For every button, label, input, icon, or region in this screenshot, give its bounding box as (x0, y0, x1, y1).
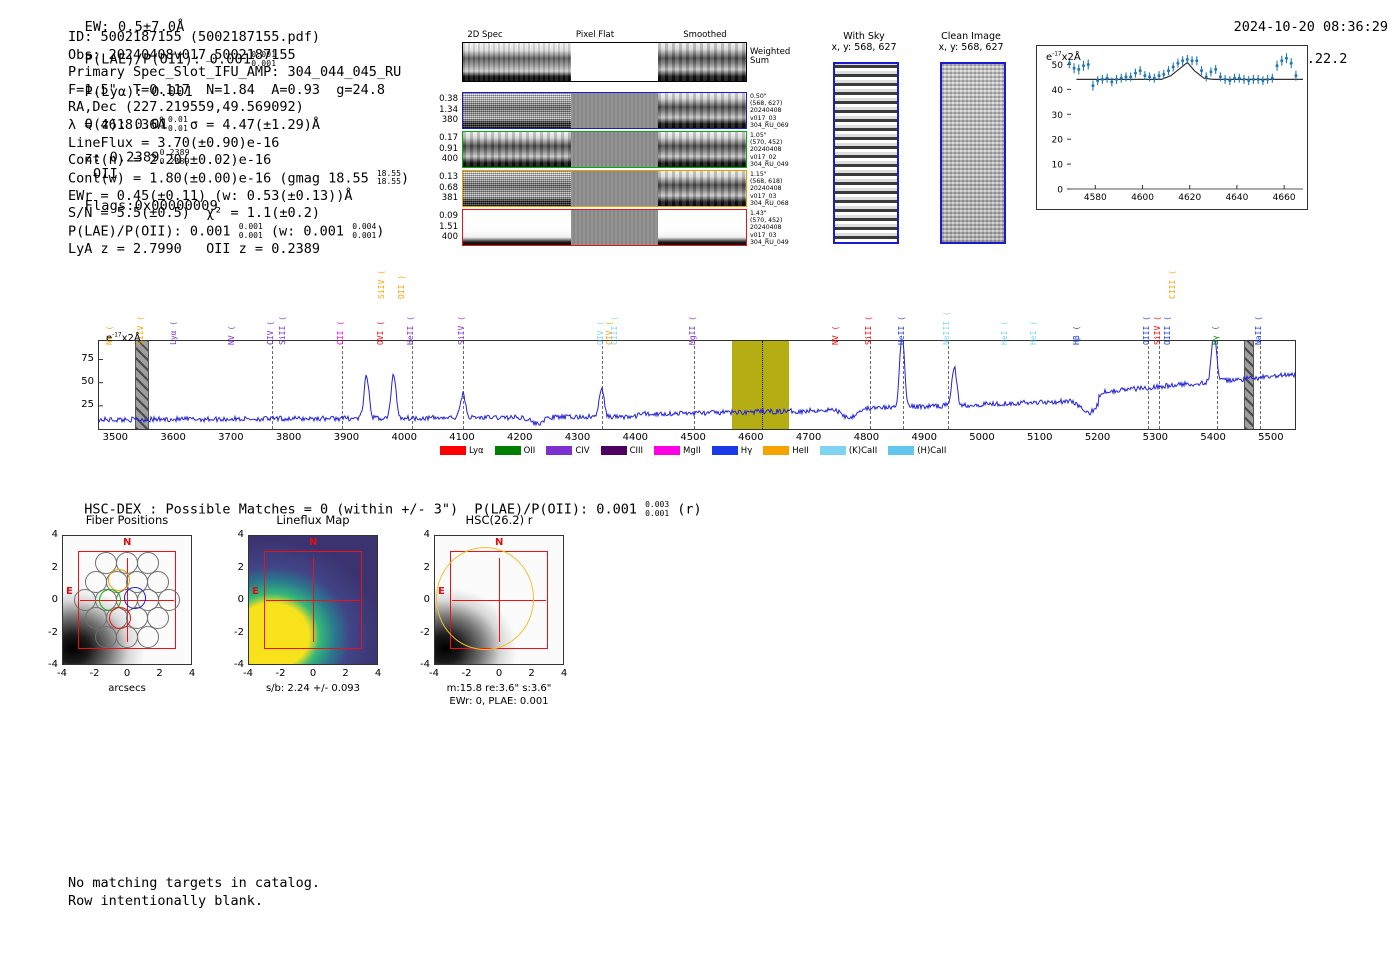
full-spectrum-line-label: MgII ( (688, 316, 697, 345)
legend-item: Lyα (440, 446, 484, 456)
header-datetime: 2024-10-20 08:36:29 (1234, 19, 1388, 35)
full-spectrum-line-label: NV ( (227, 326, 236, 345)
full-spectrum-line-label: OIV ( (596, 321, 605, 345)
cutout-title-0: With Sky (843, 31, 884, 42)
svg-text:4640: 4640 (1225, 193, 1248, 203)
spec2d-fiber-meta: 304_RU_068 (750, 200, 808, 207)
cutout-title-with-sky: With Sky x, y: 568, 627 (818, 31, 910, 53)
info-plae-post: ) (376, 224, 384, 240)
full-spectrum-x-tick: 4600 (729, 432, 773, 443)
full-spectrum-x-tick: 4200 (498, 432, 542, 443)
spec2d-col-header-pixelflat: Pixel Flat (540, 30, 650, 40)
cutout-subtitle-0: x, y: 568, 627 (831, 42, 896, 53)
full-spectrum-line-label: HeI ( (1000, 321, 1009, 345)
spec2d-fiber-meta: v017_03 (750, 193, 808, 200)
full-spectrum-line-label: CIII ( (610, 316, 619, 345)
info-primary-spec-slot: Primary Spec_Slot_IFU_AMP: 304_044_045_R… (68, 64, 409, 82)
fiber-circle[interactable] (85, 571, 107, 593)
spec2d-fiber-meta: v017_03 (750, 232, 808, 239)
bottom-panel-caption: s/b: 2.24 +/- 0.093 (218, 683, 408, 695)
bottom-panel-y-tick: 0 (226, 594, 244, 605)
bottom-panel-title: Fiber Positions (40, 513, 214, 527)
bottom-panel-y-tick: -4 (226, 659, 244, 670)
bottom-panel-y-tick: -4 (40, 659, 58, 670)
spec2d-fiber-meta: 1.43" (750, 210, 808, 217)
bottom-panel-y-tick: 0 (40, 594, 58, 605)
info-lineflux: LineFlux = 3.70(±0.90)e-16 (68, 135, 409, 153)
bottom-panel-y-tick: 2 (412, 562, 430, 573)
bottom-panel-y-tick: -2 (226, 627, 244, 638)
svg-text:4600: 4600 (1131, 193, 1154, 203)
spec2d-fiber-meta: 20240408 (750, 185, 808, 192)
bottom-panel-y-tick: -4 (412, 659, 430, 670)
full-spectrum-x-tick: 4100 (440, 432, 484, 443)
svg-text:0: 0 (1057, 186, 1063, 196)
full-spectrum-x-tick: 4300 (556, 432, 600, 443)
bottom-panel-x-tick: 0 (115, 668, 139, 679)
legend-swatch (763, 446, 789, 455)
full-spectrum-x-tick: 5400 (1191, 432, 1235, 443)
info-cont-w: Cont(w) = 1.80(±0.00)e-16 (gmag 18.55 18… (68, 170, 409, 188)
detection-info-block: ID: 5002187155 (5002187155.pdf) Obs: 202… (68, 29, 409, 259)
spec2d-fiber-flat-image (571, 171, 659, 206)
spec2d-fiber-meta: 1.05" (750, 132, 808, 139)
zoom-spectrum-flux-annotation: e-17x2Å (1046, 52, 1081, 63)
spec2d-fiber-stat: 1.51 (424, 222, 458, 233)
full-spectrum-line-label: OIII ( (1163, 316, 1172, 345)
full-spectrum-line-label: Lyα ( (169, 321, 178, 345)
legend-swatch (601, 446, 627, 455)
svg-text:10: 10 (1052, 161, 1064, 171)
spec2d-fiber-stat: 380 (424, 115, 458, 126)
spec2d-fiber-left-stats: 0.091.51400 (424, 211, 458, 243)
cutout-image-clean (940, 62, 1006, 244)
spec2d-fiber-meta: 304_RU_049 (750, 239, 808, 246)
info-ewr: EWr = 0.45(±0.11) (w: 0.53(±0.13))Å (68, 188, 409, 206)
footer-note: No matching targets in catalog. Row inte… (68, 875, 320, 910)
legend-label: CIII (630, 446, 643, 456)
bottom-panel-y-tick: 4 (412, 529, 430, 540)
spec2d-weighted-sum-smoothed-image (658, 43, 746, 81)
spec2d-fiber-meta: 1.15" (750, 171, 808, 178)
full-spectrum-line-label: NeIII ( (942, 311, 951, 345)
spec2d-weighted-sum-row (462, 42, 747, 82)
bottom-panel-x-tick: 2 (334, 668, 358, 679)
info-cont-n: Cont(n) = 2.20(±0.02)e-16 (68, 152, 409, 170)
full-spectrum-x-tick: 4900 (902, 432, 946, 443)
zoom-spectrum-svg: 0102030405045804600462046404660 (1037, 46, 1309, 211)
spec2d-fiber-stat: 381 (424, 193, 458, 204)
spec2d-fiber-meta: 0.50" (750, 93, 808, 100)
spec2d-fiber-row (462, 170, 747, 207)
spec2d-fiber-left-stats: 0.381.34380 (424, 94, 458, 126)
spec2d-fiber-stat: 0.13 (424, 172, 458, 183)
legend-swatch (440, 446, 466, 455)
full-spectrum-line-label: OII ) (397, 275, 406, 299)
legend-label: CIV (575, 446, 589, 456)
legend-label: HeII (792, 446, 809, 456)
info-plae-w-lo: 0.001 (352, 231, 376, 240)
bottom-panel-y-tick: 2 (40, 562, 58, 573)
info-plae-poii: P(LAE)/P(OII): 0.001 0.0010.001 (w: 0.00… (68, 223, 409, 241)
info-cont-w-post: ) (401, 170, 409, 186)
spec2d-col-header-2dspec: 2D Spec (430, 30, 540, 40)
legend-label: MgII (683, 446, 701, 456)
full-spectrum-line-label: SiII ( (278, 316, 287, 345)
full-spectrum-line-label: CIV ( (266, 321, 275, 345)
fiber-circle[interactable] (95, 626, 117, 648)
info-plae-mid: (w: 0.001 (263, 224, 352, 240)
legend-swatch (712, 446, 738, 455)
svg-text:40: 40 (1052, 86, 1064, 96)
spec2d-fiber-stat: 0.09 (424, 211, 458, 222)
legend-item: CIV (546, 446, 589, 456)
full-spectrum-line-label: SiIV ( (1153, 316, 1162, 345)
footer-line-1: No matching targets in catalog. (68, 875, 320, 893)
legend-swatch (820, 446, 846, 455)
cutout-title-clean-image: Clean Image x, y: 568, 627 (925, 31, 1017, 53)
full-spectrum-x-tick: 4400 (613, 432, 657, 443)
bottom-panel-north-label: N (495, 537, 503, 548)
bottom-panel-x-tick: 4 (180, 668, 204, 679)
spec2d-fiber-stat: 400 (424, 232, 458, 243)
spec2d-fiber-row (462, 131, 747, 168)
spec2d-fiber-flat-image (571, 93, 659, 128)
full-spectrum-legend: LyαOIICIVCIIIMgIIHγHeII(K)CaII(H)CaII (440, 446, 957, 456)
legend-swatch (495, 446, 521, 455)
full-spectrum-line-label: NV ( (831, 326, 840, 345)
spec2d-fiber-meta: (568, 627) (750, 100, 808, 107)
full-spectrum-flux-annotation: e-17x2Å (106, 333, 141, 344)
spec2d-fiber-left-stats: 0.130.68381 (424, 172, 458, 204)
legend-label: OII (524, 446, 536, 456)
svg-text:4620: 4620 (1178, 193, 1201, 203)
hsc-aperture-ellipse (436, 547, 534, 650)
info-lambda-sigma: λ = 4618.36Å σ = 4.47(±1.29)Å (68, 117, 409, 135)
full-spectrum-line-label: SiII ( (864, 316, 873, 345)
spec2d-col-header-smoothed: Smoothed (650, 30, 760, 40)
bottom-panel-y-tick: -2 (40, 627, 58, 638)
bottom-panel-y-tick: 2 (226, 562, 244, 573)
spec2d-fiber-stat: 0.17 (424, 133, 458, 144)
bottom-panel-xlabel: arcsecs (42, 683, 212, 695)
legend-item: (H)CaII (888, 446, 946, 456)
svg-text:4580: 4580 (1084, 193, 1107, 203)
spec2d-fiber-meta: v017_03 (750, 115, 808, 122)
full-spectrum-x-tick: 3700 (209, 432, 253, 443)
full-spectrum-line-label: CIII ( (1168, 270, 1177, 299)
full-spectrum-line-label: SiIV ( (457, 316, 466, 345)
full-spectrum-x-tick: 5100 (1018, 432, 1062, 443)
bottom-panel-x-tick: -2 (269, 668, 293, 679)
info-redshifts: LyA z = 2.7990 OII z = 0.2389 (68, 241, 409, 259)
spec2d-fiber-meta: (568, 618) (750, 178, 808, 185)
spec2d-fiber-smoothed-image (658, 93, 746, 128)
full-spectrum-line-label: OIII ( (1142, 316, 1151, 345)
info-radec: RA,Dec (227.219559,49.569092) (68, 99, 409, 117)
hsc-dex-filter: (r) (669, 502, 702, 518)
info-cont-w-pre: Cont(w) = 1.80(±0.00)e-16 (gmag 18.55 (68, 170, 377, 186)
full-spectrum-line-label: HeI ( (1029, 321, 1038, 345)
full-spectrum-line-label: HeII ( (897, 316, 906, 345)
spec2d-fiber-right-meta: 0.50"(568, 627)20240408v017_03304_RU_069 (750, 93, 808, 129)
spec2d-fiber-right-meta: 1.43"(570, 452)20240408v017_03304_RU_049 (750, 210, 808, 246)
spec2d-fiber-meta: v017_02 (750, 154, 808, 161)
full-spectrum-line-label: Hγ ( (1211, 326, 1220, 345)
fiber-circle-highlighted[interactable] (124, 587, 146, 609)
full-spectrum-x-tick: 5000 (960, 432, 1004, 443)
bottom-panel-y-tick: 0 (412, 594, 430, 605)
spec2d-fiber-stat: 400 (424, 154, 458, 165)
legend-swatch (654, 446, 680, 455)
full-spectrum-x-tick: 5200 (1076, 432, 1120, 443)
bottom-panel-north-label: N (309, 537, 317, 548)
svg-text:20: 20 (1052, 136, 1064, 146)
full-spectrum-x-tick: 4800 (844, 432, 888, 443)
spec2d-fiber-meta: 304_RU_049 (750, 161, 808, 168)
info-gmag-lo: 18.55 (377, 177, 401, 186)
full-spectrum-x-tick: 3500 (93, 432, 137, 443)
fiber-circle-highlighted[interactable] (108, 569, 130, 591)
fiber-circle-highlighted[interactable] (109, 607, 131, 629)
bottom-panel-x-tick: 2 (520, 668, 544, 679)
bottom-panel-y-tick: -2 (412, 627, 430, 638)
full-spectrum-line-label: CII ( (336, 321, 345, 345)
spec2d-fiber-smoothed-image (658, 132, 746, 167)
bottom-panel-east-label: E (66, 586, 73, 597)
spec2d-fiber-stat: 0.68 (424, 183, 458, 194)
bottom-panel-x-tick: -2 (83, 668, 107, 679)
full-spectrum-x-tick: 4000 (382, 432, 426, 443)
info-seeing-throughput: F=1.5" T=0.117 N=1.84 A=0.93 g=24.8 (68, 82, 409, 100)
bottom-panel-east-label: E (252, 586, 259, 597)
legend-label: Hγ (741, 446, 752, 456)
bottom-panel-crosshair (266, 600, 360, 601)
spec2d-fiber-left-stats: 0.170.91400 (424, 133, 458, 165)
bottom-panel-title: HSC(26.2) r (412, 513, 586, 527)
spec2d-fiber-2dspec-image (463, 171, 571, 206)
spec2d-weighted-sum-label: Weighted Sum (750, 48, 790, 66)
cutout-image-with-sky (833, 62, 899, 244)
full-spectrum-line-label: OVI ( (376, 321, 385, 345)
full-spectrum-y-tick: 25 (72, 399, 94, 410)
bottom-panel-caption-2: EWr: 0, PLAE: 0.001 (404, 696, 594, 708)
full-spectrum-plot (98, 340, 1296, 430)
spec2d-fiber-stat: 1.34 (424, 105, 458, 116)
legend-item: CIII (601, 446, 643, 456)
spec2d-fiber-smoothed-image (658, 171, 746, 206)
spec2d-fiber-2dspec-image (463, 132, 571, 167)
spec2d-fiber-right-meta: 1.15"(568, 618)20240408v017_03304_RU_068 (750, 171, 808, 207)
bottom-panel-x-tick: 4 (552, 668, 576, 679)
full-spectrum-x-tick: 3900 (324, 432, 368, 443)
info-id: ID: 5002187155 (5002187155.pdf) (68, 29, 409, 47)
spec2d-fiber-right-meta: 1.05"(570, 452)20240408v017_02304_RU_049 (750, 132, 808, 168)
full-spectrum-y-tick: 75 (72, 353, 94, 364)
spec2d-fiber-meta: (570, 452) (750, 139, 808, 146)
full-spectrum-y-tick: 50 (72, 376, 94, 387)
spec2d-fiber-meta: (570, 452) (750, 217, 808, 224)
svg-text:30: 30 (1052, 111, 1064, 121)
legend-item: (K)CaII (820, 446, 877, 456)
spec2d-panel: 2D Spec Pixel Flat Smoothed Weighted Sum… (430, 30, 810, 245)
full-spectrum-x-tick: 3800 (267, 432, 311, 443)
legend-swatch (546, 446, 572, 455)
legend-item: OII (495, 446, 536, 456)
info-sn-chi2: S/N = 5.5(±0.5) χ² = 1.1(±0.2) (68, 205, 409, 223)
legend-label: (H)CaII (917, 446, 946, 456)
spec2d-fiber-flat-image (571, 210, 659, 245)
bottom-panel-y-tick: 4 (40, 529, 58, 540)
spec2d-fiber-smoothed-image (658, 210, 746, 245)
spec2d-fiber-meta: 304_RU_069 (750, 122, 808, 129)
spec2d-fiber-flat-image (571, 132, 659, 167)
full-spectrum-x-tick: 3600 (151, 432, 195, 443)
svg-text:4660: 4660 (1273, 193, 1296, 203)
bottom-panel-x-tick: -2 (455, 668, 479, 679)
bottom-panel-x-tick: 0 (487, 668, 511, 679)
info-obs: Obs: 20240408v017_5002187155 (68, 47, 409, 65)
cutout-title-1: Clean Image (941, 31, 1001, 42)
bottom-panel-y-tick: 4 (226, 529, 244, 540)
info-plae-lo: 0.001 (239, 231, 263, 240)
bottom-panel-x-tick: 0 (301, 668, 325, 679)
spec2d-weighted-sum-2dspec-image (463, 43, 571, 81)
full-spectrum-x-tick: 5300 (1133, 432, 1177, 443)
spec2d-fiber-meta: 20240408 (750, 224, 808, 231)
spec2d-fiber-2dspec-image (463, 93, 571, 128)
cutout-subtitle-1: x, y: 568, 627 (938, 42, 1003, 53)
legend-swatch (888, 446, 914, 455)
bottom-panel-x-tick: 4 (366, 668, 390, 679)
spec2d-fiber-stat: 0.91 (424, 144, 458, 155)
bottom-panel-x-tick: 2 (148, 668, 172, 679)
spec2d-fiber-row (462, 209, 747, 246)
legend-item: MgII (654, 446, 701, 456)
spec2d-fiber-row (462, 92, 747, 129)
zoom-spectrum-plot: 0102030405045804600462046404660 (1036, 45, 1308, 210)
spec2d-fiber-meta: 20240408 (750, 146, 808, 153)
spec2d-weighted-sum-flat-image (571, 43, 659, 81)
bottom-panel-north-label: N (123, 537, 131, 548)
bottom-panel-caption: m:15.8 re:3.6" s:3.6" (404, 683, 594, 695)
footer-line-2: Row intentionally blank. (68, 893, 320, 911)
full-spectrum-line-label: SiIV ( (377, 270, 386, 299)
full-spectrum-line-label: HeII ( (406, 316, 415, 345)
info-plae-pre: P(LAE)/P(OII): 0.001 (68, 224, 239, 240)
legend-label: Lyα (469, 446, 484, 456)
spec2d-fiber-stat: 0.38 (424, 94, 458, 105)
full-spectrum-svg (99, 341, 1295, 429)
full-spectrum-line-label: NaII ( (1254, 316, 1263, 345)
full-spectrum-x-tick: 4500 (671, 432, 715, 443)
full-spectrum-line-label: Hβ ( (1072, 326, 1081, 345)
legend-item: Hγ (712, 446, 752, 456)
full-spectrum-x-tick: 5500 (1249, 432, 1293, 443)
bottom-panel-title: Lineflux Map (226, 513, 400, 527)
legend-label: (K)CaII (849, 446, 877, 456)
full-spectrum-x-tick: 4700 (787, 432, 831, 443)
hsc-dex-plae-lo: 0.001 (645, 509, 669, 518)
spec2d-fiber-meta: 20240408 (750, 107, 808, 114)
spec2d-fiber-2dspec-image (463, 210, 571, 245)
legend-item: HeII (763, 446, 809, 456)
